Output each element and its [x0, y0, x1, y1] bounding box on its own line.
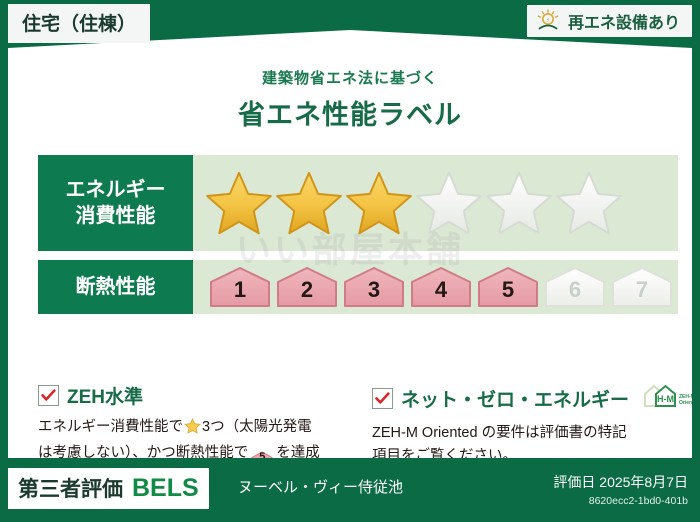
netzero-body-line1: ZEH-M Oriented の要件は評価書の特記: [372, 425, 627, 441]
house-number: 1: [234, 277, 246, 308]
insulation-rating-label: 断熱性能: [38, 260, 193, 314]
renewable-energy-label: 再エネ設備あり: [568, 9, 680, 33]
title-main: 省エネ性能ラベル: [8, 93, 692, 132]
energy-label-line2: 消費性能: [76, 203, 156, 229]
energy-rating-row: エネルギー 消費性能: [38, 155, 678, 251]
zehm-logo-caption2: Oriented: [679, 400, 700, 406]
renewable-energy-badge: ⚡ 再エネ設備あり: [527, 5, 692, 37]
energy-label-line1: エネルギー: [66, 177, 166, 203]
house-empty-icon: 6: [544, 266, 606, 308]
check-icon: [372, 388, 393, 409]
zeh-title: ZEH水準: [67, 382, 143, 409]
house-filled-icon: 3: [343, 266, 405, 308]
netzero-title: ネット・ゼロ・エネルギー: [401, 385, 629, 412]
check-icon: [38, 385, 59, 406]
energy-rating-label: エネルギー 消費性能: [38, 155, 193, 251]
bels-label: BELS: [132, 474, 199, 503]
house-filled-icon: 4: [410, 266, 472, 308]
evaluation-info: 評価日 2025年8月7日 8620ecc2-1bd0-401b: [553, 472, 688, 507]
svg-text:⚡: ⚡: [546, 17, 550, 24]
star-empty-icon: [555, 170, 623, 236]
zeh-heading: ZEH水準: [38, 382, 348, 409]
insulation-label-text: 断熱性能: [76, 274, 156, 300]
zehm-logo-text: H-M: [657, 394, 674, 404]
bels-tag: 第三者評価 BELS: [8, 468, 209, 509]
zehm-oriented-logo-icon: H-M ZEH-M Oriented: [642, 382, 700, 415]
star-empty-icon: [485, 170, 553, 236]
house-number: 2: [301, 277, 313, 308]
house-filled-icon: 2: [276, 266, 338, 308]
house-empty-icon: 7: [611, 266, 673, 308]
third-party-label: 第三者評価: [18, 473, 123, 503]
netzero-heading: ネット・ゼロ・エネルギー H-M ZEH-M Oriented: [372, 382, 682, 415]
zeh-body-star-count: 3つ（太陽光発電: [202, 419, 312, 435]
building-name: ヌーベル・ヴィー侍従池: [238, 476, 403, 497]
house-number: 5: [502, 277, 514, 308]
star-filled-icon: [205, 170, 273, 236]
title-block: 建築物省エネ法に基づく 省エネ性能ラベル: [8, 67, 692, 132]
netzero-info-column: ネット・ゼロ・エネルギー H-M ZEH-M Oriented ZEH-M Or…: [372, 382, 682, 469]
house-filled-icon: 1: [209, 266, 271, 308]
star-empty-icon: [415, 170, 483, 236]
house-number: 4: [435, 277, 447, 308]
ratings-section: エネルギー 消費性能 断熱性能 1234567: [38, 155, 678, 323]
footer: 第三者評価 BELS ヌーベル・ヴィー侍従池 評価日 2025年8月7日 862…: [0, 460, 700, 522]
zeh-info-column: ZEH水準 エネルギー消費性能で3つ（太陽光発電 は考慮しない）、かつ断熱性能で…: [38, 382, 348, 469]
inline-star-icon: [184, 422, 201, 438]
evaluation-date: 評価日 2025年8月7日: [553, 472, 688, 492]
star-filled-icon: [275, 170, 343, 236]
zeh-body-pre: エネルギー消費性能で: [38, 419, 183, 435]
energy-label-root: 住宅（住棟） ⚡ 再エネ設備あり 建築物省エネ法に基づく 省エネ性能ラベル: [0, 0, 700, 522]
house-number: 3: [368, 277, 380, 308]
house-number: 7: [636, 277, 648, 308]
insulation-house-track: 1234567: [193, 260, 678, 314]
label-card: 建築物省エネ法に基づく 省エネ性能ラベル エネルギー 消費性能 断熱性能 123…: [8, 30, 692, 458]
info-columns: ZEH水準 エネルギー消費性能で3つ（太陽光発電 は考慮しない）、かつ断熱性能で…: [38, 382, 686, 469]
sun-icon: ⚡: [535, 9, 561, 33]
evaluation-id: 8620ecc2-1bd0-401b: [553, 495, 688, 507]
star-filled-icon: [345, 170, 413, 236]
building-type-tag: 住宅（住棟）: [8, 4, 150, 43]
insulation-rating-row: 断熱性能 1234567: [38, 260, 678, 314]
house-filled-icon: 5: [477, 266, 539, 308]
title-subtitle: 建築物省エネ法に基づく: [8, 67, 692, 88]
house-number: 6: [569, 277, 581, 308]
energy-star-track: [193, 155, 678, 251]
